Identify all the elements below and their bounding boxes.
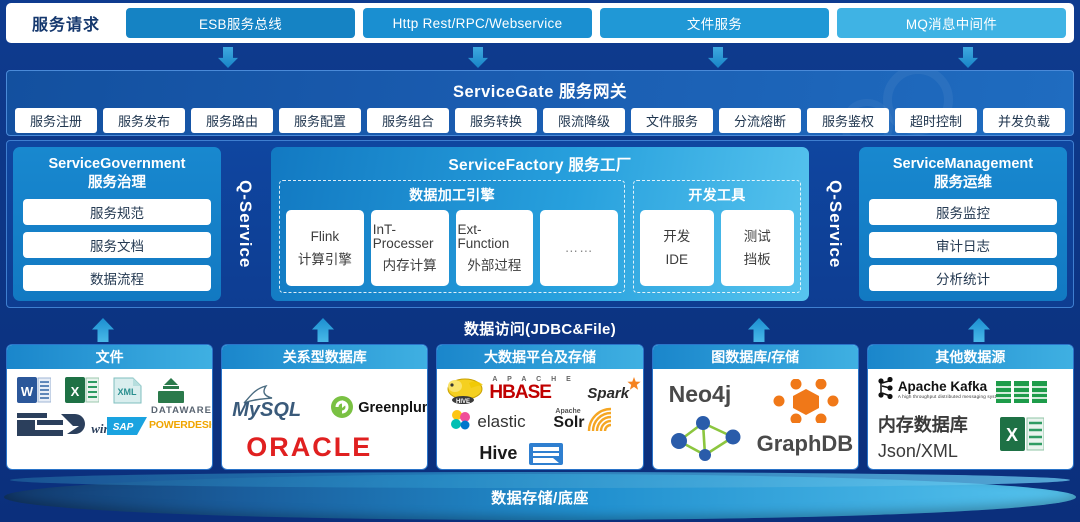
request-channel-esb[interactable]: ESB服务总线 [126,8,355,38]
solr-label: Solr [553,414,584,432]
gate-capability-11[interactable]: 并发负载 [983,108,1065,133]
kafka-tagline: A high throughput distributed messaging … [898,394,1004,399]
neo4j-graph-icon [667,415,747,461]
memory-db-label: 内存数据库 [878,411,968,437]
data-access-title: 数据访问(JDBC&File) [0,318,1080,339]
arrow-down-icon [958,47,978,68]
service-management-title-cn: 服务运维 [869,174,1057,193]
source-panel-bigdata-body: HIVE A P A C H E HBASE Spark elastic Apa… [437,369,642,469]
request-channel-http[interactable]: Http Rest/RPC/Webservice [363,8,592,38]
architecture-diagram: 服务请求 ESB服务总线 Http Rest/RPC/Webservice 文件… [0,0,1080,522]
gate-capability-3[interactable]: 服务配置 [279,108,361,133]
service-gate-panel: ServiceGate 服务网关 服务注册 服务发布 服务路由 服务配置 服务组… [6,70,1074,136]
dataware-label: DATAWARE [151,405,212,416]
svg-text:X: X [71,384,80,399]
engine-card-ext-function-desc: 外部过程 [467,259,521,273]
excel-icon: X [1000,417,1044,451]
gate-capability-7[interactable]: 文件服务 [631,108,713,133]
service-middle-layer: ServiceGovernment 服务治理 服务规范 服务文档 数据流程 Q-… [6,140,1074,308]
excel-icon: X [65,377,99,403]
service-government-title-cn: 服务治理 [23,174,211,193]
svg-text:W: W [21,384,34,399]
elastic-icon [449,409,473,431]
arrow-down-icon [708,47,728,68]
governance-item-2[interactable]: 数据流程 [23,265,211,291]
engine-card-ext-function[interactable]: Ext-Function 外部过程 [456,210,534,286]
word-icon: W [17,377,51,403]
management-item-2[interactable]: 分析统计 [869,265,1057,291]
gate-capability-9[interactable]: 服务鉴权 [807,108,889,133]
gate-capability-5[interactable]: 服务转换 [455,108,537,133]
svg-text:HIVE: HIVE [456,399,470,405]
graphdb-label: GraphDB [757,431,854,457]
gate-capability-0[interactable]: 服务注册 [15,108,97,133]
source-panel-file-header: 文件 [7,345,212,369]
q-service-left-text: Q-Service [235,180,255,268]
data-processing-engine-group: 数据加工引擎 Flink 计算引擎 InT-Processer 内存计算 Ext… [279,180,625,293]
source-panel-other-header: 其他数据源 [868,345,1073,369]
engine-card-flink-name: Flink [311,230,340,244]
dev-tools-group: 开发工具 开发 IDE 测试 挡板 [633,180,801,293]
service-government-title-en: ServiceGovernment [48,156,185,172]
management-item-0[interactable]: 服务监控 [869,199,1057,225]
downward-flow-arrows [0,44,1080,70]
hive-bee-icon: HIVE [443,375,487,405]
hbase-label: HBASE [489,382,551,404]
hive-db-icon [529,443,563,465]
service-factory-panel: ServiceFactory 服务工厂 数据加工引擎 Flink 计算引擎 In… [271,147,809,301]
gate-capability-2[interactable]: 服务路由 [191,108,273,133]
source-panel-bigdata[interactable]: 大数据平台及存储 HIVE A P A C H E HBASE Spark [436,344,643,470]
oracle-label: ORACLE [246,432,372,463]
source-panel-file[interactable]: 文件 W X [6,344,213,470]
source-panel-rdb[interactable]: 关系型数据库 MySQL Greenplum ORACLE [221,344,428,470]
source-panel-rdb-header: 关系型数据库 [222,345,427,369]
source-panel-file-body: W X [7,369,212,469]
arrow-down-icon [468,47,488,68]
request-channel-file[interactable]: 文件服务 [600,8,829,38]
hive-label: Hive [479,443,517,464]
base-ellipse-highlight [10,472,1070,488]
spark-star-icon [627,377,641,391]
engine-card-more[interactable]: …… [540,210,618,286]
service-management-panel: ServiceManagement 服务运维 服务监控 审计日志 分析统计 [859,147,1067,301]
engine-card-int-processer[interactable]: InT-Processer 内存计算 [371,210,449,286]
base-label: 数据存储/底座 [0,487,1080,508]
data-processing-engine-title: 数据加工引擎 [286,185,618,205]
q-service-right-text: Q-Service [825,180,845,268]
governance-item-1[interactable]: 服务文档 [23,232,211,258]
q-service-left-label: Q-Service [221,147,269,301]
engine-card-ext-function-name: Ext-Function [458,223,532,250]
service-gate-capability-list: 服务注册 服务发布 服务路由 服务配置 服务组合 服务转换 限流降级 文件服务 … [7,102,1073,133]
table-icon [996,381,1048,403]
sap-label: SAP [113,422,134,433]
service-government-panel: ServiceGovernment 服务治理 服务规范 服务文档 数据流程 [13,147,221,301]
source-panel-graphdb-header: 图数据库/存储 [653,345,858,369]
spark-label: Spark [587,385,629,402]
arrow-down-icon [218,47,238,68]
source-panel-bigdata-header: 大数据平台及存储 [437,345,642,369]
request-channel-mq[interactable]: MQ消息中间件 [837,8,1066,38]
dev-tools-card-ide-name: 开发 [663,230,690,244]
engine-card-flink[interactable]: Flink 计算引擎 [286,210,364,286]
source-panel-other-body: Apache Kafka A high throughput distribut… [868,369,1073,469]
service-management-title: ServiceManagement 服务运维 [869,155,1057,193]
service-gate-title: ServiceGate 服务网关 [7,71,1073,102]
gate-capability-6[interactable]: 限流降级 [543,108,625,133]
json-xml-label: Json/XML [878,441,958,462]
data-storage-base: 数据存储/底座 [0,472,1080,522]
source-panel-rdb-body: MySQL Greenplum ORACLE [222,369,427,469]
gate-capability-1[interactable]: 服务发布 [103,108,185,133]
source-panel-other[interactable]: 其他数据源 Apache Kafka A high throughput dis… [867,344,1074,470]
powerdesigner-label: POWERDESIGNER [149,419,213,431]
kafka-label: Apache Kafka [898,379,987,394]
solr-sunburst-icon [587,407,617,433]
graphdb-hex-icon [763,379,849,423]
service-government-title: ServiceGovernment 服务治理 [23,155,211,193]
management-item-1[interactable]: 审计日志 [869,232,1057,258]
mysql-label: MySQL [232,399,301,422]
service-request-bar: 服务请求 ESB服务总线 Http Rest/RPC/Webservice 文件… [6,3,1074,43]
dev-tools-card-ide-desc: IDE [665,253,688,267]
dev-tools-card-test-name: 测试 [744,230,771,244]
elastic-label: elastic [477,412,525,432]
governance-item-0[interactable]: 服务规范 [23,199,211,225]
upload-file-icon [155,377,187,404]
service-request-label: 服务请求 [14,11,118,35]
dev-tools-card-ide[interactable]: 开发 IDE [640,210,714,286]
service-factory-title: ServiceFactory 服务工厂 [279,153,801,175]
neo4j-label: Neo4j [669,381,732,408]
sap-logo: SAP [107,417,147,435]
greenplum-icon [330,395,354,419]
gate-capability-10[interactable]: 超时控制 [895,108,977,133]
data-access-band: 数据访问(JDBC&File) [0,310,1080,346]
q-service-right-label: Q-Service [811,147,859,301]
service-factory-body: 数据加工引擎 Flink 计算引擎 InT-Processer 内存计算 Ext… [279,180,801,293]
dev-tools-title: 开发工具 [640,185,794,205]
dev-tools-card-test[interactable]: 测试 挡板 [721,210,795,286]
engine-card-int-processer-desc: 内存计算 [383,259,437,273]
source-panel-graphdb-body: Neo4j [653,369,858,469]
kafka-icon [876,377,896,399]
dev-tools-card-list: 开发 IDE 测试 挡板 [640,210,794,286]
engine-card-list: Flink 计算引擎 InT-Processer 内存计算 Ext-Functi… [286,210,618,286]
svg-text:X: X [1006,425,1018,445]
engine-card-flink-desc: 计算引擎 [298,253,352,267]
data-source-panels: 文件 W X [4,344,1076,470]
gate-capability-8[interactable]: 分流熔断 [719,108,801,133]
engine-card-int-processer-name: InT-Processer [373,223,447,250]
gate-capability-4[interactable]: 服务组合 [367,108,449,133]
xml-file-icon: XML [113,377,143,404]
dev-tools-card-test-desc: 挡板 [744,253,771,267]
engine-card-more-label: …… [565,241,594,255]
greenplum-label: Greenplum [358,400,428,416]
xml-label: XML [118,387,138,397]
service-management-title-en: ServiceManagement [893,156,1033,172]
source-panel-graphdb[interactable]: 图数据库/存储 Neo4j [652,344,859,470]
